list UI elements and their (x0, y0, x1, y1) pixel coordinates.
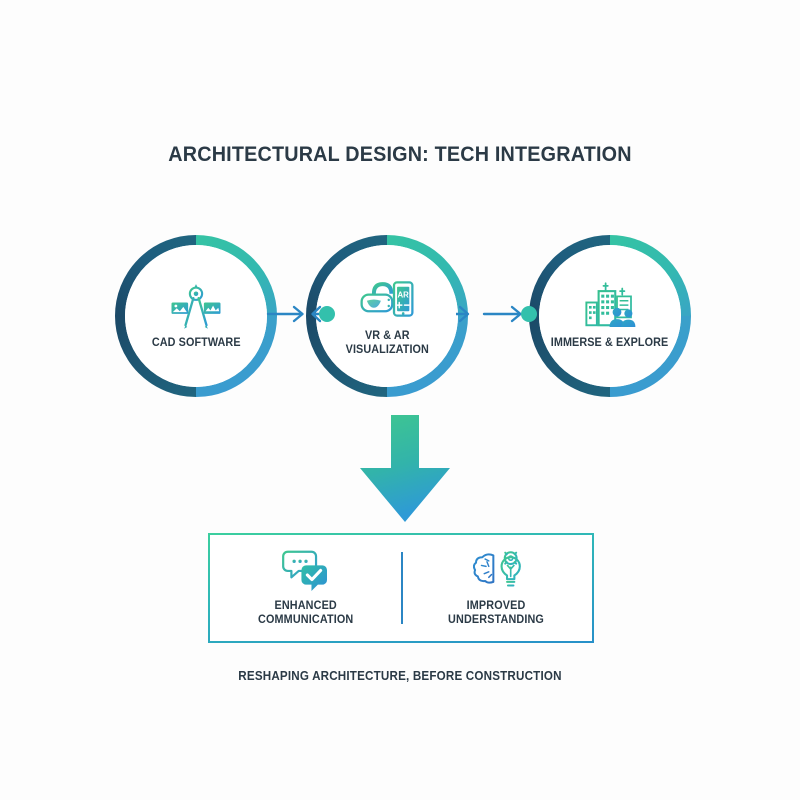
step-label-3: IMMERSE & EXPLORE (551, 337, 669, 351)
step-content-3: IMMERSE & EXPLORE (539, 245, 681, 387)
outcomes-box: ENHANCED COMMUNICATION (208, 533, 594, 643)
outcome-label-1: ENHANCED COMMUNICATION (258, 599, 353, 628)
drafting-compass-blueprint-icon (168, 281, 224, 331)
ring-gap-dot-1 (250, 306, 266, 322)
step-content-2: AR VR & AR VISUALIZATION (316, 245, 458, 387)
step-node-immerse-explore[interactable]: IMMERSE & EXPLORE (527, 233, 693, 399)
speech-bubbles-check-icon (282, 549, 330, 591)
ring-gap-dot-3 (441, 306, 457, 322)
connector-step1-step2 (266, 297, 324, 331)
step-content-1: CAD SOFTWARE (125, 245, 267, 387)
outcomes-divider (401, 552, 403, 624)
page-title: ARCHITECTURAL DESIGN: TECH INTEGRATION (32, 142, 768, 167)
svg-text:AR: AR (398, 291, 410, 300)
ring-gap-dot-2 (319, 306, 335, 322)
down-arrow (358, 415, 452, 523)
outcome-improved-understanding[interactable]: IMPROVED UNDERSTANDING (401, 535, 592, 641)
vr-headset-ar-phone-icon: AR (359, 274, 415, 324)
step-label-2: VR & AR VISUALIZATION (345, 330, 428, 357)
buildings-people-icon (582, 281, 638, 331)
infographic-canvas: ARCHITECTURAL DESIGN: TECH INTEGRATION (0, 0, 800, 800)
outcome-label-2: IMPROVED UNDERSTANDING (449, 599, 545, 628)
ring-gap-dot-4 (521, 306, 537, 322)
outcome-enhanced-communication[interactable]: ENHANCED COMMUNICATION (210, 535, 401, 641)
step-label-1: CAD SOFTWARE (152, 337, 241, 351)
process-steps-row: CAD SOFTWARE (0, 230, 800, 400)
brain-lightbulb-gear-icon (473, 549, 521, 591)
footer-caption: RESHAPING ARCHITECTURE, BEFORE CONSTRUCT… (28, 669, 772, 683)
